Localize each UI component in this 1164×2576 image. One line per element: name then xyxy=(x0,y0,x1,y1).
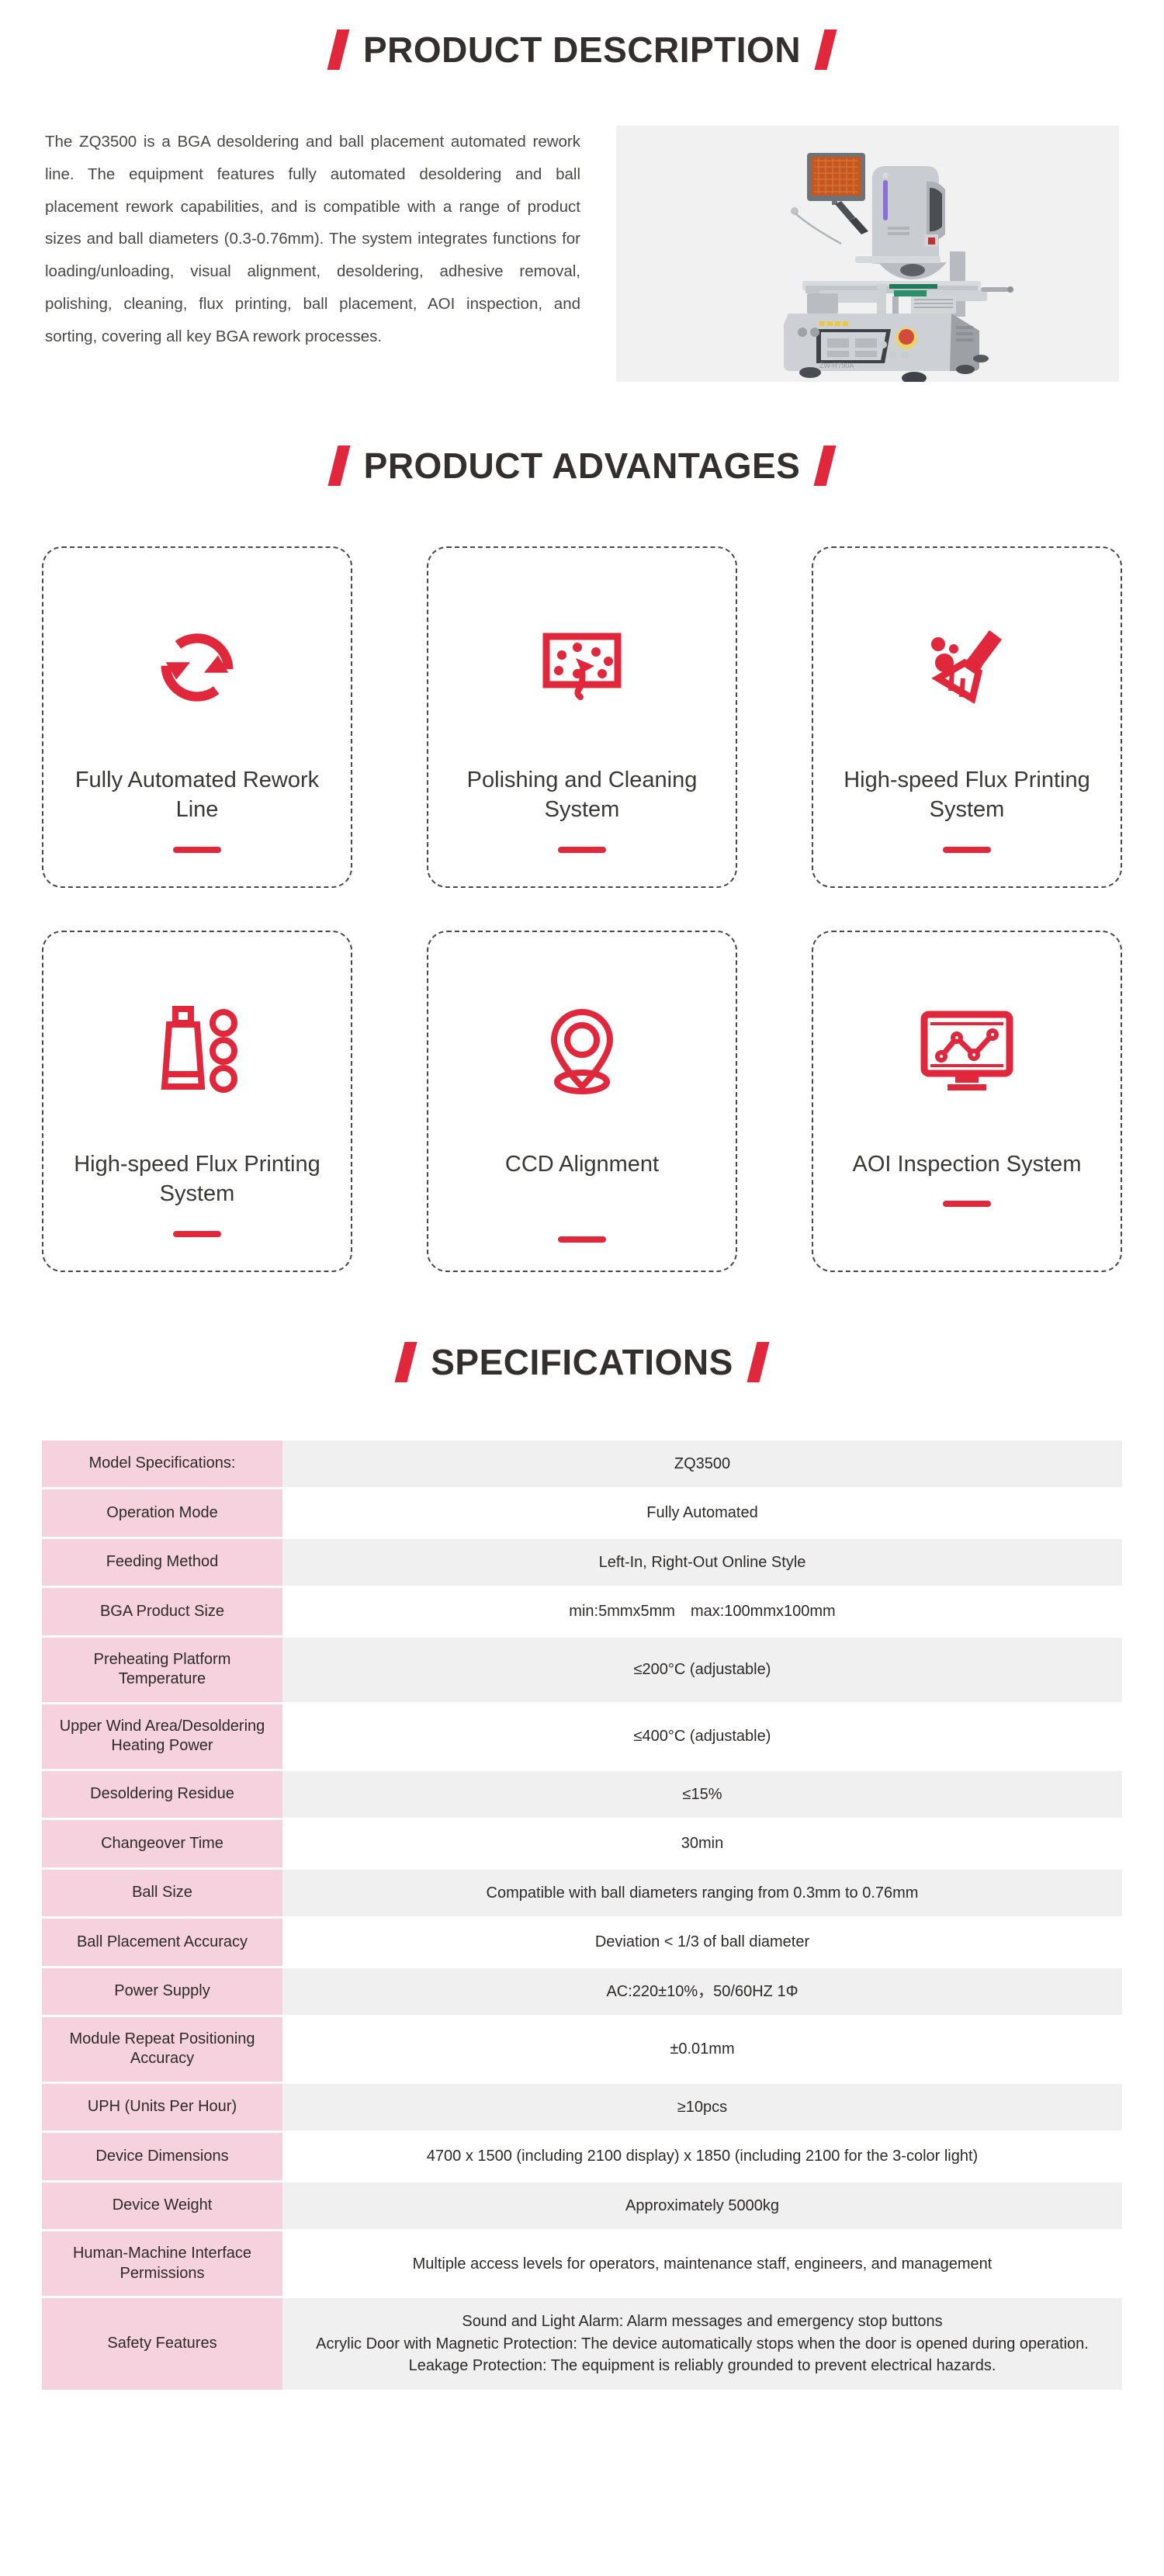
table-row: Upper Wind Area/Desoldering Heating Powe… xyxy=(42,1704,1122,1769)
advantage-underline xyxy=(173,847,221,853)
spec-key: Ball Size xyxy=(42,1870,282,1916)
table-row: Ball SizeCompatible with ball diameters … xyxy=(42,1870,1122,1916)
section-heading-specifications: SPECIFICATIONS xyxy=(0,1342,1164,1382)
specifications-title: SPECIFICATIONS xyxy=(431,1344,733,1380)
spec-value: ≥10pcs xyxy=(282,2084,1122,2130)
spec-key: Device Weight xyxy=(42,2182,282,2229)
description-paragraph: The ZQ3500 is a BGA desoldering and ball… xyxy=(45,126,580,353)
advantage-underline xyxy=(943,847,991,853)
specifications-section: SPECIFICATIONS Model Specifications:ZQ35… xyxy=(0,1342,1164,2392)
advantage-card[interactable]: Polishing and Cleaning System xyxy=(427,546,737,888)
spec-key: Upper Wind Area/Desoldering Heating Powe… xyxy=(42,1704,282,1769)
table-row: Operation ModeFully Automated xyxy=(42,1489,1122,1536)
recycle-arrows-icon xyxy=(154,616,241,719)
spec-value: Deviation < 1/3 of ball diameter xyxy=(282,1919,1122,1965)
advantage-underline xyxy=(558,847,606,853)
table-row: Safety FeaturesSound and Light Alarm: Al… xyxy=(42,2298,1122,2389)
spec-key: Ball Placement Accuracy xyxy=(42,1919,282,1965)
description-body: The ZQ3500 is a BGA desoldering and ball… xyxy=(0,126,1164,382)
slash-right-icon xyxy=(814,446,837,486)
specifications-table-wrap: Model Specifications:ZQ3500Operation Mod… xyxy=(42,1438,1122,2392)
advantage-label: High-speed Flux Printing System xyxy=(69,1149,325,1209)
advantage-underline xyxy=(558,1236,606,1243)
spec-key: Human-Machine Interface Permissions xyxy=(42,2231,282,2296)
spec-value: ±0.01mm xyxy=(282,2017,1122,2082)
advantage-label: AOI Inspection System xyxy=(853,1149,1082,1179)
spec-value: min:5mmx5mm max:100mmx100mm xyxy=(282,1588,1122,1635)
spec-key: Model Specifications: xyxy=(42,1441,282,1487)
slash-right-icon xyxy=(815,29,837,70)
location-pin-icon xyxy=(539,1000,625,1103)
advantage-card[interactable]: Fully Automated Rework Line xyxy=(42,546,352,888)
slash-left-icon xyxy=(327,29,349,70)
table-row: Model Specifications:ZQ3500 xyxy=(42,1441,1122,1487)
specifications-table: Model Specifications:ZQ3500Operation Mod… xyxy=(42,1438,1122,2392)
advantage-card[interactable]: High-speed Flux Printing System xyxy=(42,931,352,1272)
advantage-card[interactable]: AOI Inspection System xyxy=(812,931,1122,1272)
advantage-label: Polishing and Cleaning System xyxy=(454,765,710,825)
spec-key: Desoldering Residue xyxy=(42,1771,282,1818)
spec-key: Preheating Platform Temperature xyxy=(42,1638,282,1702)
advantage-label: Fully Automated Rework Line xyxy=(69,765,325,825)
spec-key: Feeding Method xyxy=(42,1539,282,1586)
spec-value: Multiple access levels for operators, ma… xyxy=(282,2231,1122,2296)
advantages-grid: Fully Automated Rework Line xyxy=(42,546,1122,1272)
spec-key: Changeover Time xyxy=(42,1820,282,1867)
table-row: Ball Placement AccuracyDeviation < 1/3 o… xyxy=(42,1919,1122,1965)
svg-text:ZW-R790A: ZW-R790A xyxy=(819,362,854,369)
spec-key: Module Repeat Positioning Accuracy xyxy=(42,2017,282,2082)
advantage-underline xyxy=(173,1231,221,1237)
product-photo: ZW-R790A xyxy=(616,126,1119,382)
spec-key: Safety Features xyxy=(42,2298,282,2389)
advantage-card[interactable]: High-speed Flux Printing System xyxy=(812,546,1122,888)
spec-key: BGA Product Size xyxy=(42,1588,282,1635)
slash-left-icon xyxy=(395,1342,417,1382)
spec-value: ≤200°C (adjustable) xyxy=(282,1638,1122,1702)
spec-value: ZQ3500 xyxy=(282,1441,1122,1487)
spec-value: ≤15% xyxy=(282,1771,1122,1818)
table-row: Human-Machine Interface PermissionsMulti… xyxy=(42,2231,1122,2296)
table-row: BGA Product Sizemin:5mmx5mm max:100mmx10… xyxy=(42,1588,1122,1635)
table-row: Device Dimensions4700 x 1500 (including … xyxy=(42,2133,1122,2179)
spec-value: ≤400°C (adjustable) xyxy=(282,1704,1122,1769)
advantage-underline xyxy=(943,1201,991,1207)
advantage-label: High-speed Flux Printing System xyxy=(839,765,1095,825)
table-row: Power SupplyAC:220±10%，50/60HZ 1Φ xyxy=(42,1968,1122,2015)
advantage-card[interactable]: CCD Alignment xyxy=(427,931,737,1272)
slash-left-icon xyxy=(327,446,350,486)
table-row: Desoldering Residue≤15% xyxy=(42,1771,1122,1818)
spec-value: Left-In, Right-Out Online Style xyxy=(282,1539,1122,1586)
advantages-title: PRODUCT ADVANTAGES xyxy=(364,448,801,484)
spec-key: Power Supply xyxy=(42,1968,282,2015)
table-row: Preheating Platform Temperature≤200°C (a… xyxy=(42,1638,1122,1702)
table-row: Feeding MethodLeft-In, Right-Out Online … xyxy=(42,1539,1122,1586)
table-row: Module Repeat Positioning Accuracy±0.01m… xyxy=(42,2017,1122,2082)
spec-value: 4700 x 1500 (including 2100 display) x 1… xyxy=(282,2133,1122,2179)
broom-sweep-icon xyxy=(921,616,1013,719)
spec-key: Device Dimensions xyxy=(42,2133,282,2179)
spec-value: 30min xyxy=(282,1820,1122,1867)
table-row: UPH (Units Per Hour)≥10pcs xyxy=(42,2084,1122,2130)
spec-value: Compatible with ball diameters ranging f… xyxy=(282,1870,1122,1916)
spec-value: Approximately 5000kg xyxy=(282,2182,1122,2229)
table-row: Changeover Time30min xyxy=(42,1820,1122,1867)
table-row: Device WeightApproximately 5000kg xyxy=(42,2182,1122,2229)
slash-right-icon xyxy=(747,1342,769,1382)
flux-tube-icon xyxy=(152,1000,242,1103)
product-advantages-section: PRODUCT ADVANTAGES Fully Automated Re xyxy=(0,446,1164,1272)
product-description-section: PRODUCT DESCRIPTION The ZQ3500 is a BGA … xyxy=(0,0,1164,382)
spec-value: Fully Automated xyxy=(282,1489,1122,1536)
spec-key: Operation Mode xyxy=(42,1489,282,1536)
product-page: PRODUCT DESCRIPTION The ZQ3500 is a BGA … xyxy=(0,0,1164,2392)
section-heading-description: PRODUCT DESCRIPTION xyxy=(0,29,1164,70)
bga-rework-machine-illustration: ZW-R790A xyxy=(616,126,1119,382)
section-heading-advantages: PRODUCT ADVANTAGES xyxy=(0,446,1164,486)
monitor-chart-icon xyxy=(918,1000,1016,1103)
advantage-label: CCD Alignment xyxy=(505,1149,659,1179)
polishing-cleaning-icon xyxy=(535,616,629,719)
page-title: PRODUCT DESCRIPTION xyxy=(363,32,801,68)
spec-value: AC:220±10%，50/60HZ 1Φ xyxy=(282,1968,1122,2015)
spec-value: Sound and Light Alarm: Alarm messages an… xyxy=(282,2298,1122,2389)
spec-key: UPH (Units Per Hour) xyxy=(42,2084,282,2130)
